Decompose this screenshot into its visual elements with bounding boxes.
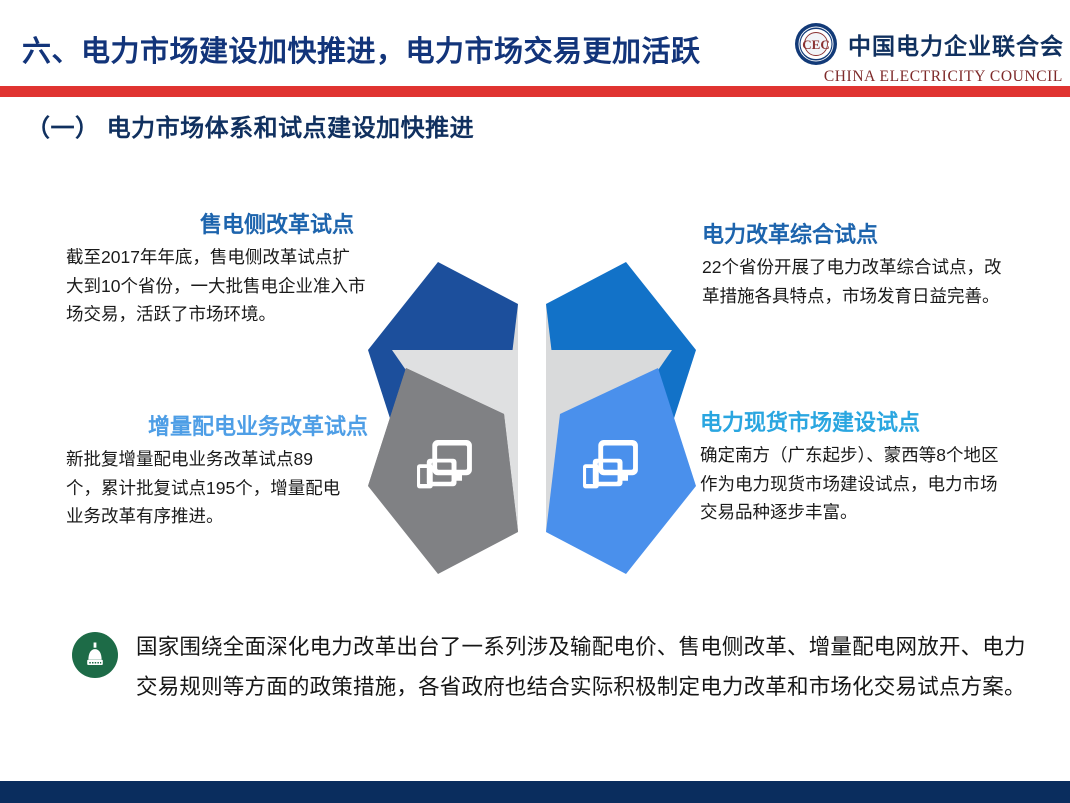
- svg-text:CEC: CEC: [802, 37, 829, 52]
- cec-emblem-icon: CEC: [794, 22, 838, 66]
- slide-root: 六、电力市场建设加快推进，电力市场交易更加活跃 CEC 中国电力企业联合会 CH…: [0, 0, 1070, 803]
- footer-note-text: 国家围绕全面深化电力改革出台了一系列涉及输配电价、售电侧改革、增量配电网放开、电…: [136, 628, 1032, 708]
- header-accent-bar: [0, 86, 1070, 97]
- quadrant-top-right-body: 22个省份开展了电力改革综合试点，改革措施各具特点，市场发育日益完善。: [702, 253, 1002, 310]
- policy-badge-icon: [72, 632, 118, 678]
- quadrant-top-right-title: 电力改革综合试点: [702, 222, 1002, 247]
- quadrant-top-left: 售电侧改革试点 截至2017年年底，售电侧改革试点扩大到10个省份，一大批售电企…: [66, 212, 366, 328]
- quadrant-bottom-left: 增量配电业务改革试点 新批复增量配电业务改革试点89个，累计批复试点195个，增…: [66, 414, 374, 530]
- quadrant-bottom-right-title: 电力现货市场建设试点: [700, 410, 1000, 435]
- quadrant-top-left-body: 截至2017年年底，售电侧改革试点扩大到10个省份，一大批售电企业准入市场交易，…: [66, 243, 366, 328]
- logo-english-name: CHINA ELECTRICITY COUNCIL: [824, 68, 1063, 86]
- quadrant-bottom-right-body: 确定南方（广东起步）、蒙西等8个地区作为电力现货市场建设试点，电力市场交易品种逐…: [700, 441, 1000, 526]
- footer-note: 国家围绕全面深化电力改革出台了一系列涉及输配电价、售电侧改革、增量配电网放开、电…: [72, 628, 1032, 708]
- quadrant-bottom-right: 电力现货市场建设试点 确定南方（广东起步）、蒙西等8个地区作为电力现货市场建设试…: [700, 410, 1000, 526]
- brand-logo: CEC 中国电力企业联合会 CHINA ELECTRICITY COUNCIL: [812, 22, 1064, 82]
- logo-row: CEC 中国电力企业联合会: [794, 22, 1064, 66]
- section-heading: （一） 电力市场体系和试点建设加快推进: [26, 108, 474, 143]
- page-title: 六、电力市场建设加快推进，电力市场交易更加活跃: [22, 28, 701, 70]
- footer-accent-bar: [0, 781, 1070, 803]
- quadrant-top-right: 电力改革综合试点 22个省份开展了电力改革综合试点，改革措施各具特点，市场发育日…: [702, 222, 1002, 310]
- quadrant-bottom-left-body: 新批复增量配电业务改革试点89个，累计批复试点195个，增量配电业务改革有序推进…: [66, 445, 344, 530]
- pentagon-cluster-diagram: [362, 232, 702, 604]
- quadrant-bottom-left-title: 增量配电业务改革试点: [66, 414, 374, 439]
- quadrant-top-left-title: 售电侧改革试点: [66, 212, 366, 237]
- logo-chinese-name: 中国电力企业联合会: [848, 27, 1064, 61]
